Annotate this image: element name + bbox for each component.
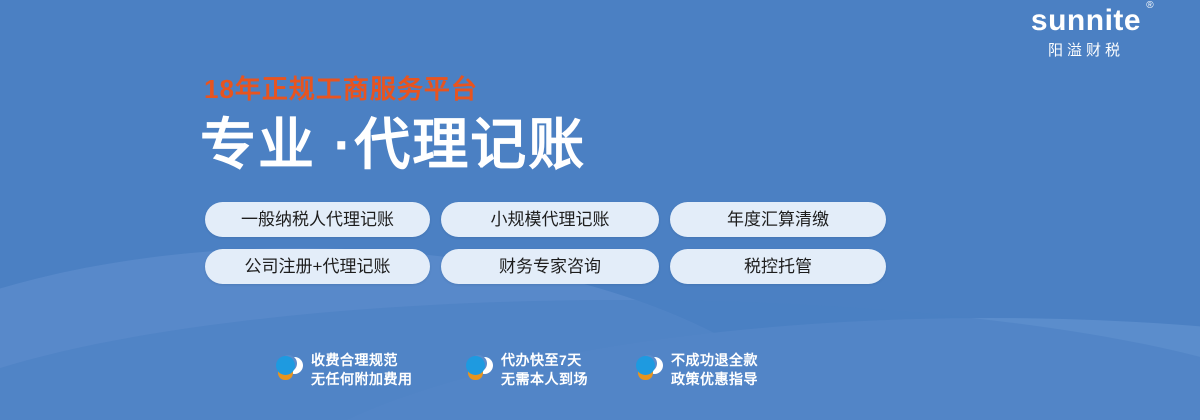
logo-wordmark-text: sunnite xyxy=(1031,4,1141,37)
service-pill-annual-settlement[interactable]: 年度汇算清缴 xyxy=(670,202,886,237)
promo-banner: sunnite ® 阳溢财税 18年正规工商服务平台 专业 ·代理记账 一般纳税… xyxy=(0,0,1200,420)
feature-item-speed: 代办快至7天 无需本人到场 xyxy=(465,351,635,389)
service-pill-general-taxpayer[interactable]: 一般纳税人代理记账 xyxy=(205,202,430,237)
service-pill-tax-control-hosting[interactable]: 税控托管 xyxy=(670,249,886,284)
feature-item-pricing: 收费合理规范 无任何附加费用 xyxy=(275,351,465,389)
hero-headline: 专业 ·代理记账 xyxy=(200,112,586,178)
service-pill-small-scale[interactable]: 小规模代理记账 xyxy=(441,202,659,237)
feature-line-1: 不成功退全款 xyxy=(671,351,758,370)
circle-drop-icon xyxy=(635,355,662,385)
brand-logo[interactable]: sunnite ® 阳溢财税 xyxy=(996,4,1176,60)
circle-drop-icon xyxy=(465,355,492,385)
service-pill-group: 一般纳税人代理记账 小规模代理记账 年度汇算清缴 公司注册+代理记账 财务专家咨… xyxy=(205,202,886,296)
feature-item-guarantee: 不成功退全款 政策优惠指导 xyxy=(635,351,815,389)
service-pill-row-2: 公司注册+代理记账 财务专家咨询 税控托管 xyxy=(205,249,886,284)
service-pill-row-1: 一般纳税人代理记账 小规模代理记账 年度汇算清缴 xyxy=(205,202,886,237)
circle-drop-icon xyxy=(275,355,302,385)
logo-subtitle: 阳溢财税 xyxy=(996,41,1176,60)
feature-line-2: 无需本人到场 xyxy=(501,370,588,389)
service-pill-company-registration[interactable]: 公司注册+代理记账 xyxy=(205,249,430,284)
service-pill-expert-consulting[interactable]: 财务专家咨询 xyxy=(441,249,659,284)
feature-line-1: 代办快至7天 xyxy=(501,351,588,370)
feature-line-1: 收费合理规范 xyxy=(311,351,413,370)
registered-trademark-icon: ® xyxy=(1146,1,1154,11)
feature-line-2: 无任何附加费用 xyxy=(311,370,413,389)
feature-line-2: 政策优惠指导 xyxy=(671,370,758,389)
feature-list: 收费合理规范 无任何附加费用 代办快至7天 无需本人到场 xyxy=(275,351,815,389)
feature-text-pricing: 收费合理规范 无任何附加费用 xyxy=(311,351,413,389)
logo-wordmark: sunnite ® xyxy=(1031,4,1141,38)
feature-text-guarantee: 不成功退全款 政策优惠指导 xyxy=(671,351,758,389)
hero-kicker: 18年正规工商服务平台 xyxy=(204,74,478,104)
feature-text-speed: 代办快至7天 无需本人到场 xyxy=(501,351,588,389)
